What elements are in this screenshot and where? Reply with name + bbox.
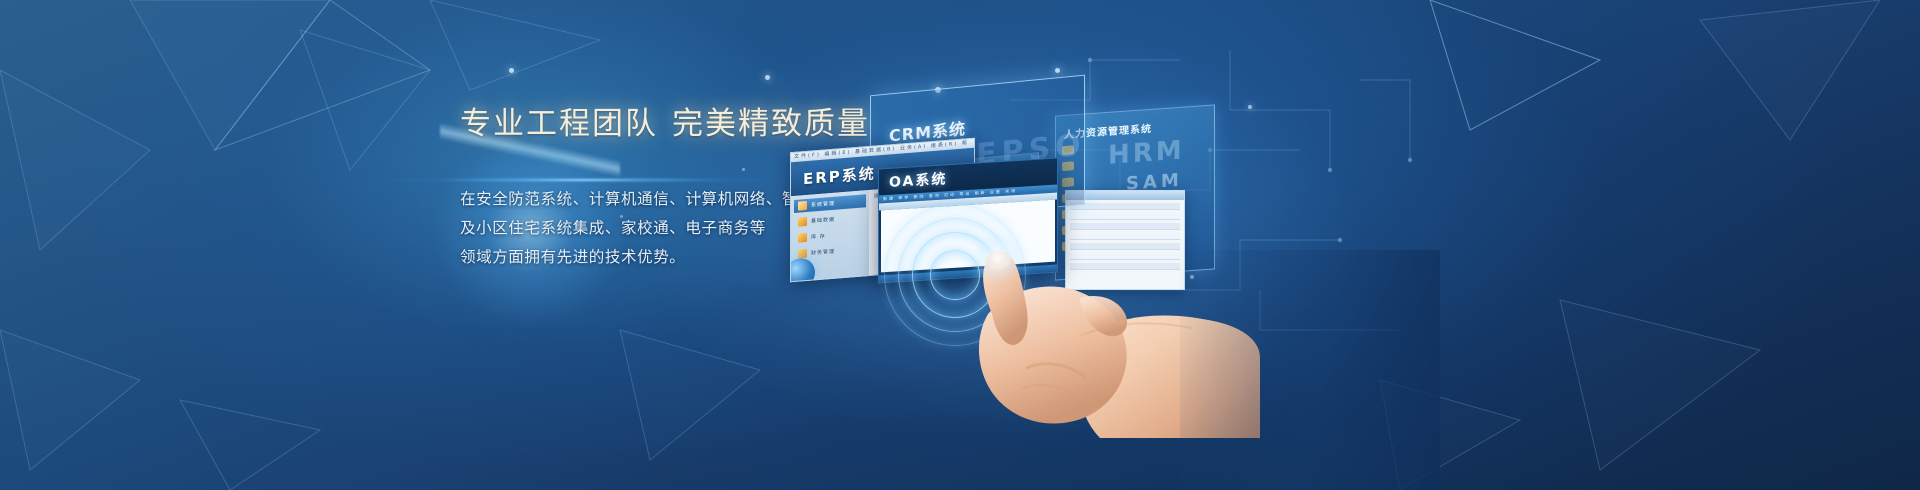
bokeh-dot: [1055, 68, 1060, 73]
oa-data-grid[interactable]: [881, 200, 1055, 273]
database-icon: [798, 217, 807, 227]
right-app-row: [1070, 203, 1180, 210]
bokeh-dot: [765, 75, 770, 80]
bokeh-dot: [509, 68, 514, 73]
folder-icon: [798, 201, 807, 211]
erp-sidebar-label: 基础数据: [811, 216, 835, 225]
oa-window-title: OA系统: [889, 168, 947, 192]
right-app-window: [1065, 190, 1185, 290]
page-title: 专业工程团队完美精致质量: [460, 98, 880, 143]
hr-watermark: HRM: [1108, 136, 1185, 171]
hand-blend-overlay: [1180, 250, 1440, 490]
hero-banner: 专业工程团队完美精致质量 在安全防范系统、计算机通信、计算机网络、智能大厦 及小…: [0, 0, 1920, 490]
erp-sidebar-label: 库 存: [811, 232, 826, 240]
erp-sidebar-label: 系统管理: [811, 200, 835, 209]
right-app-row: [1070, 263, 1180, 270]
right-app-row: [1070, 223, 1180, 230]
chart-icon: [798, 249, 807, 259]
right-app-row: [1070, 213, 1180, 220]
erp-window-title: ERP系统: [803, 162, 876, 189]
bokeh-dot: [1190, 275, 1194, 279]
erp-sidebar-label: 财务管理: [811, 248, 835, 257]
right-app-row: [1070, 253, 1180, 260]
right-app-row: [1070, 233, 1180, 240]
oa-system-window: OA系统 新建 保存 删除 查询 打印 导出 刷新 设置 关闭: [878, 157, 1058, 283]
right-app-row: [1070, 243, 1180, 250]
box-icon: [798, 233, 807, 243]
headline-left: 专业工程团队: [460, 106, 658, 142]
bokeh-dot: [1248, 105, 1252, 109]
headline-right: 完美精致质量: [672, 106, 870, 142]
